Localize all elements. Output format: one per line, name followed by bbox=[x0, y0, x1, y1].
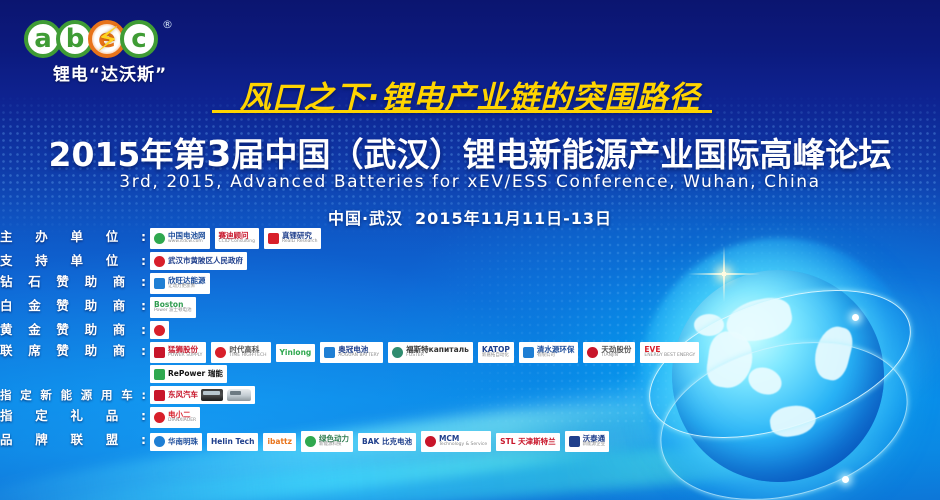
sponsor-name: ibattz bbox=[267, 438, 292, 446]
sponsor-logo-mark-icon bbox=[392, 347, 403, 358]
sponsor-subtitle: FOSTER bbox=[406, 354, 469, 359]
title-edition-number: 3 bbox=[206, 134, 231, 175]
sponsor-row: 钻石赞助商:欣旺达能源让动力更澎湃 bbox=[0, 273, 700, 294]
page-title-english: 3rd, 2015, Advanced Batteries for xEV/ES… bbox=[0, 172, 940, 192]
continent-shape bbox=[745, 363, 786, 399]
sponsor-subtitle: TIME HIGH-TECH bbox=[229, 354, 266, 359]
sponsor-logo-text: 福斯特капитальFOSTER bbox=[406, 346, 469, 359]
sponsor-logo-text: 天劲股份TIANJIN bbox=[601, 346, 631, 359]
sponsor-row-label: 联席赞助商: bbox=[0, 342, 150, 360]
sponsor-row: 支持单位:武汉市黄陂区人民政府 bbox=[0, 252, 700, 270]
sponsor-logo-group bbox=[150, 321, 169, 339]
sponsor-logo-text: Yinlong bbox=[280, 349, 312, 357]
sponsor-logo[interactable]: 赛迪顾问CCID Consulting bbox=[215, 228, 259, 249]
lightning-bolt-icon: ⚡ bbox=[96, 18, 118, 62]
sponsor-logo-mark-icon bbox=[425, 436, 436, 447]
sponsor-logo-text: 清水源环保有限公司 bbox=[537, 346, 575, 359]
sponsor-subtitle: RealLi Research bbox=[282, 240, 318, 245]
page-title: 2015年第3届中国（武汉）锂电新能源产业国际高峰论坛 bbox=[0, 128, 940, 176]
sponsor-logo[interactable]: 华南明珠 bbox=[150, 433, 202, 451]
sponsor-logo-mark-icon bbox=[324, 347, 335, 358]
sponsor-logo-group: 猛狮股份POWER SUPPLY时代高科TIME HIGH-TECHYinlon… bbox=[150, 342, 699, 363]
sponsor-logo-mark-icon bbox=[154, 278, 165, 289]
title-suffix: 届中国（武汉）锂电新能源产业国际高峰论坛 bbox=[231, 135, 891, 174]
sponsor-subtitle: Technology & Service bbox=[439, 443, 487, 448]
sponsor-logo-mark-icon bbox=[154, 256, 165, 267]
event-location: 中国·武汉 bbox=[328, 209, 403, 228]
sponsor-subtitle: ENERGY BEST ENERGY bbox=[644, 354, 695, 359]
sponsor-row: 联席赞助商:猛狮股份POWER SUPPLY时代高科TIME HIGH-TECH… bbox=[0, 342, 700, 363]
sponsor-logo-text: 东风汽车 bbox=[168, 391, 198, 399]
continent-shape bbox=[704, 329, 755, 391]
sponsor-subtitle: AOGUAN BATTERY bbox=[338, 354, 379, 359]
event-date: 2015年11月11日-13日 bbox=[415, 209, 612, 228]
sponsor-logo-mark-icon bbox=[523, 347, 534, 358]
orbit-node bbox=[852, 314, 859, 321]
sponsor-logo[interactable]: BAK 比克电池 bbox=[358, 433, 416, 451]
sponsor-logo-group: 武汉市黄陂区人民政府 bbox=[150, 252, 247, 270]
sponsor-logo-mark-icon bbox=[154, 347, 165, 358]
sponsor-row: 品牌联盟:华南明珠Helin Techibattz绿色动力新能源科技BAK 比克… bbox=[0, 431, 700, 452]
sunburst-rays bbox=[676, 228, 856, 408]
title-prefix: 2015年第 bbox=[49, 135, 207, 174]
conference-banner: a b e c ⚡ ® 锂电“达沃斯” 风口之下·锂电产业链的突围路径 2015… bbox=[0, 0, 940, 500]
sponsor-logo[interactable]: 东风汽车 bbox=[150, 386, 255, 404]
vehicle-images bbox=[201, 389, 251, 401]
sponsor-subtitle: 新能源科技 bbox=[319, 443, 349, 448]
sponsor-subtitle: DIANXIAOER bbox=[168, 419, 196, 424]
sponsor-logo[interactable]: BostonPower 波士顿电池 bbox=[150, 297, 196, 318]
sponsor-logo[interactable]: RePower 瑞能 bbox=[150, 365, 227, 383]
orbit-node bbox=[842, 476, 849, 483]
sponsor-subtitle: www.itdcw.com bbox=[168, 240, 206, 245]
sponsor-name: 武汉市黄陂区人民政府 bbox=[168, 257, 243, 265]
sponsor-logo-text: KATOP新嘉拓自动化 bbox=[482, 346, 510, 359]
sponsor-logo-text: 猛狮股份POWER SUPPLY bbox=[168, 346, 202, 359]
sponsor-row-label: 钻石赞助商: bbox=[0, 273, 150, 291]
sponsor-logo-text: 绿色动力新能源科技 bbox=[319, 435, 349, 448]
sponsor-row: 黄金赞助商: bbox=[0, 321, 700, 339]
sponsor-logo-text: STL 天津斯特兰 bbox=[500, 438, 555, 446]
logo-letter-c: c bbox=[120, 20, 158, 58]
sponsor-logo-text: 中国电池网www.itdcw.com bbox=[168, 232, 206, 245]
sponsor-subtitle: CCID Consulting bbox=[219, 240, 255, 245]
sponsor-logo[interactable]: 时代高科TIME HIGH-TECH bbox=[211, 342, 270, 363]
sponsor-logo[interactable]: EVEENERGY BEST ENERGY bbox=[640, 342, 699, 363]
sponsor-logo-text: ibattz bbox=[267, 438, 292, 446]
sponsor-logo-group: BostonPower 波士顿电池 bbox=[150, 297, 196, 318]
sponsor-logo[interactable]: 奥冠电池AOGUAN BATTERY bbox=[320, 342, 383, 363]
sponsor-logo[interactable]: Yinlong bbox=[276, 344, 316, 362]
sponsor-logo-group: RePower 瑞能 bbox=[150, 365, 227, 383]
sponsor-logo-text: BAK 比克电池 bbox=[362, 438, 412, 446]
sponsor-logo[interactable]: STL 天津斯特兰 bbox=[496, 433, 559, 451]
sponsor-logo-text: 华南明珠 bbox=[168, 438, 198, 446]
sponsor-logo-text: 欣旺达能源让动力更澎湃 bbox=[168, 277, 206, 290]
sponsor-row-label: 支持单位: bbox=[0, 252, 150, 270]
sponsor-name: STL 天津斯特兰 bbox=[500, 438, 555, 446]
sponsor-logo-group: 电小二DIANXIAOER bbox=[150, 407, 200, 428]
sponsor-logo[interactable]: ibattz bbox=[263, 433, 296, 451]
sponsor-logo-mark-icon bbox=[154, 412, 165, 423]
bus-icon bbox=[201, 389, 223, 401]
sponsor-name: 华南明珠 bbox=[168, 438, 198, 446]
sponsor-list: 主办单位:中国电池网www.itdcw.com赛迪顾问CCID Consulti… bbox=[0, 228, 700, 455]
registered-trademark-mark: ® bbox=[162, 18, 173, 31]
sponsor-logo-text: 沃泰通新能源企业 bbox=[583, 435, 606, 448]
sponsor-row: RePower 瑞能 bbox=[0, 365, 700, 383]
tagline-underline bbox=[212, 110, 712, 113]
sponsor-row-label: 品牌联盟: bbox=[0, 431, 150, 449]
sponsor-logo-text: MCMTechnology & Service bbox=[439, 435, 487, 448]
sponsor-logo[interactable]: 绿色动力新能源科技 bbox=[301, 431, 353, 452]
sponsor-name: Yinlong bbox=[280, 349, 312, 357]
sponsor-subtitle: 新嘉拓自动化 bbox=[482, 354, 510, 359]
sponsor-logo[interactable]: 沃泰通新能源企业 bbox=[565, 431, 610, 452]
sponsor-logo-text: RePower 瑞能 bbox=[168, 370, 223, 378]
sponsor-row: 白金赞助商:BostonPower 波士顿电池 bbox=[0, 297, 700, 318]
sponsor-logo-mark-icon bbox=[154, 436, 165, 447]
sponsor-logo[interactable]: KATOP新嘉拓自动化 bbox=[478, 342, 514, 363]
sponsor-logo-text: 时代高科TIME HIGH-TECH bbox=[229, 346, 266, 359]
sponsor-logo-group: 华南明珠Helin Techibattz绿色动力新能源科技BAK 比克电池MCM… bbox=[150, 431, 609, 452]
sponsor-name: RePower 瑞能 bbox=[168, 370, 223, 378]
sponsor-logo-text: 电小二DIANXIAOER bbox=[168, 411, 196, 424]
sponsor-subtitle: Power 波士顿电池 bbox=[154, 309, 192, 314]
sponsor-logo-mark-icon bbox=[215, 347, 226, 358]
sponsor-subtitle: 有限公司 bbox=[537, 354, 575, 359]
sponsor-logo-text: 赛迪顾问CCID Consulting bbox=[219, 232, 255, 245]
sponsor-logo[interactable] bbox=[150, 321, 169, 339]
sponsor-logo[interactable]: 武汉市黄陂区人民政府 bbox=[150, 252, 247, 270]
sponsor-logo-text: 奥冠电池AOGUAN BATTERY bbox=[338, 346, 379, 359]
sponsor-logo[interactable]: Helin Tech bbox=[207, 433, 258, 451]
sponsor-row: 指定新能源用车:东风汽车 bbox=[0, 386, 700, 404]
sponsor-logo[interactable]: 福斯特капитальFOSTER bbox=[388, 342, 473, 363]
sponsor-logo-text: 武汉市黄陂区人民政府 bbox=[168, 257, 243, 265]
sponsor-logo[interactable]: 天劲股份TIANJIN bbox=[583, 342, 635, 363]
sponsor-row-label: 白金赞助商: bbox=[0, 297, 150, 315]
sponsor-logo-mark-icon bbox=[154, 369, 165, 380]
sponsor-logo-mark-icon bbox=[154, 390, 165, 401]
sponsor-subtitle: 新能源企业 bbox=[583, 443, 606, 448]
sponsor-logo-mark-icon bbox=[569, 436, 580, 447]
sponsor-logo[interactable]: 中国电池网www.itdcw.com bbox=[150, 228, 210, 249]
sponsor-row-label: 指定礼品: bbox=[0, 407, 150, 425]
sponsor-logo-text: 真锂研究RealLi Research bbox=[282, 232, 318, 245]
continent-shape bbox=[768, 403, 818, 439]
sponsor-row: 指定礼品:电小二DIANXIAOER bbox=[0, 407, 700, 428]
sponsor-logo[interactable]: 清水源环保有限公司 bbox=[519, 342, 579, 363]
sponsor-name: 东风汽车 bbox=[168, 391, 198, 399]
star-sparkle-icon bbox=[722, 272, 726, 276]
globe-sphere bbox=[672, 270, 884, 482]
sponsor-logo-group: 东风汽车 bbox=[150, 386, 255, 404]
sponsor-logo[interactable]: 真锂研究RealLi Research bbox=[264, 228, 322, 249]
sponsor-logo[interactable]: 欣旺达能源让动力更澎湃 bbox=[150, 273, 210, 294]
continent-shape bbox=[810, 323, 856, 384]
sponsor-row: 主办单位:中国电池网www.itdcw.com赛迪顾问CCID Consulti… bbox=[0, 228, 700, 249]
sponsor-name: Helin Tech bbox=[211, 438, 254, 446]
logo-letter-circles: a b e c ⚡ ® bbox=[24, 20, 196, 60]
sponsor-subtitle: POWER SUPPLY bbox=[168, 354, 202, 359]
sponsor-subtitle: TIANJIN bbox=[601, 354, 631, 359]
sponsor-logo[interactable]: MCMTechnology & Service bbox=[421, 431, 491, 452]
sponsor-subtitle: 让动力更澎湃 bbox=[168, 285, 206, 290]
sponsor-logo-mark-icon bbox=[587, 347, 598, 358]
sponsor-row-label: 黄金赞助商: bbox=[0, 321, 150, 339]
sponsor-logo-text: Helin Tech bbox=[211, 438, 254, 446]
sponsor-logo-text: EVEENERGY BEST ENERGY bbox=[644, 346, 695, 359]
event-meta: 中国·武汉2015年11月11日-13日 bbox=[0, 205, 940, 229]
sponsor-logo[interactable]: 猛狮股份POWER SUPPLY bbox=[150, 342, 206, 363]
sponsor-logo-text: BostonPower 波士顿电池 bbox=[154, 301, 192, 314]
van-icon bbox=[227, 389, 251, 401]
sponsor-logo-group: 欣旺达能源让动力更澎湃 bbox=[150, 273, 210, 294]
sponsor-logo[interactable]: 电小二DIANXIAOER bbox=[150, 407, 200, 428]
sponsor-row-label: 指定新能源用车: bbox=[0, 386, 150, 404]
sponsor-logo-mark-icon bbox=[154, 325, 165, 336]
sponsor-name: BAK 比克电池 bbox=[362, 438, 412, 446]
continent-shape bbox=[723, 294, 796, 347]
sponsor-logo-mark-icon bbox=[154, 233, 165, 244]
sponsor-logo-group: 中国电池网www.itdcw.com赛迪顾问CCID Consulting真锂研… bbox=[150, 228, 321, 249]
sponsor-logo-mark-icon bbox=[268, 233, 279, 244]
sponsor-logo-mark-icon bbox=[305, 436, 316, 447]
sponsor-row-label: 主办单位: bbox=[0, 228, 150, 246]
